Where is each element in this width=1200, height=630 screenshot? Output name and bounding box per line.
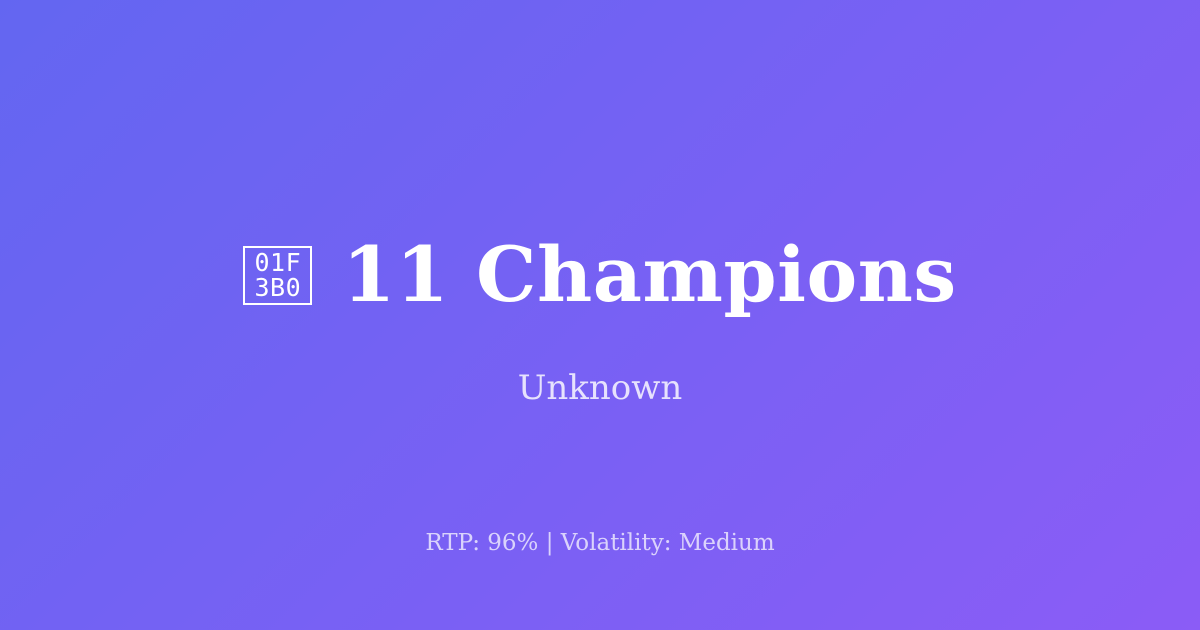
slot-machine-icon-codepoint-high: 01F (254, 250, 301, 275)
page-title: 11 Champions (342, 232, 956, 318)
game-share-card: 01F 3B0 11 Champions Unknown RTP: 96% | … (0, 0, 1200, 630)
title-row: 01F 3B0 11 Champions (0, 232, 1200, 318)
game-meta-line: RTP: 96% | Volatility: Medium (0, 528, 1200, 559)
slot-machine-icon: 01F 3B0 (243, 246, 312, 305)
game-provider-subtitle: Unknown (0, 366, 1200, 410)
slot-machine-icon-codepoint-low: 3B0 (254, 275, 301, 300)
